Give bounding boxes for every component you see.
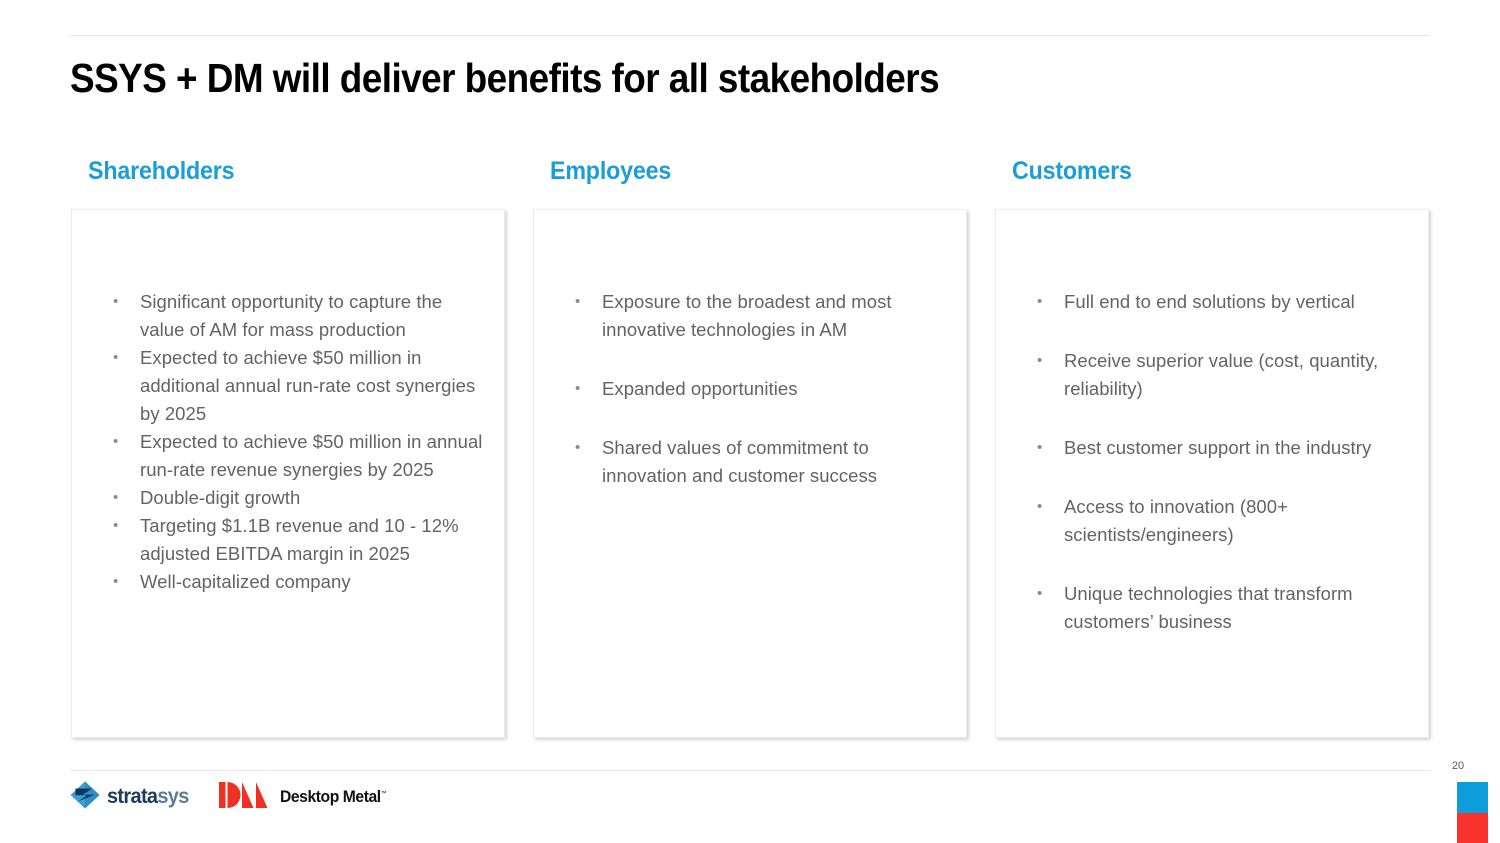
- list-item: Receive superior value (cost, quantity, …: [1016, 347, 1408, 403]
- list-item: Expected to achieve $50 million in addit…: [92, 344, 484, 428]
- column-shareholders: Shareholders Significant opportunity to …: [71, 156, 505, 738]
- list-item: Unique technologies that transform custo…: [1016, 580, 1408, 636]
- bullet-list-shareholders: Significant opportunity to capture the v…: [92, 288, 484, 596]
- chip-red: [1457, 813, 1488, 843]
- stratasys-wordmark-dark: strata: [107, 785, 157, 808]
- list-item: Significant opportunity to capture the v…: [92, 288, 484, 344]
- card-customers: Full end to end solutions by vertical Re…: [995, 209, 1429, 738]
- list-item: Double-digit growth: [92, 484, 484, 512]
- list-item: Exposure to the broadest and most innova…: [554, 288, 946, 344]
- column-heading-customers: Customers: [1012, 156, 1400, 186]
- chip-blue: [1457, 782, 1488, 813]
- desktop-metal-mark-icon: [219, 782, 273, 813]
- card-shareholders: Significant opportunity to capture the v…: [71, 209, 505, 738]
- list-item: Full end to end solutions by vertical: [1016, 288, 1408, 316]
- slide-canvas: SSYS + DM will deliver benefits for all …: [0, 0, 1500, 843]
- desktop-metal-wordmark: Desktop Metal: [280, 788, 386, 807]
- stakeholder-columns: Shareholders Significant opportunity to …: [0, 0, 1500, 843]
- bullet-list-employees: Exposure to the broadest and most innova…: [554, 288, 946, 490]
- list-item: Targeting $1.1B revenue and 10 - 12% adj…: [92, 512, 484, 568]
- list-item: Best customer support in the industry: [1016, 434, 1408, 462]
- column-employees: Employees Exposure to the broadest and m…: [533, 156, 967, 738]
- stratasys-diamond-icon: [70, 781, 100, 814]
- list-item: Expected to achieve $50 million in annua…: [92, 428, 484, 484]
- bullet-list-customers: Full end to end solutions by vertical Re…: [1016, 288, 1408, 636]
- list-item: Shared values of commitment to innovatio…: [554, 434, 946, 490]
- footer-divider: [70, 770, 1430, 771]
- column-heading-shareholders: Shareholders: [88, 156, 476, 186]
- column-customers: Customers Full end to end solutions by v…: [995, 156, 1429, 738]
- list-item: Well-capitalized company: [92, 568, 484, 596]
- column-heading-employees: Employees: [550, 156, 938, 186]
- page-number: 20: [1438, 760, 1478, 772]
- footer-logos: stratasys Desktop Metal: [70, 782, 392, 812]
- card-employees: Exposure to the broadest and most innova…: [533, 209, 967, 738]
- list-item: Access to innovation (800+ scientists/en…: [1016, 493, 1408, 549]
- list-item: Expanded opportunities: [554, 375, 946, 403]
- stratasys-logo: stratasys: [70, 781, 193, 814]
- stratasys-wordmark-light: sys: [157, 785, 188, 808]
- stratasys-wordmark: stratasys: [107, 785, 189, 809]
- brand-color-chips: [1457, 782, 1488, 843]
- desktop-metal-logo: Desktop Metal: [219, 782, 392, 813]
